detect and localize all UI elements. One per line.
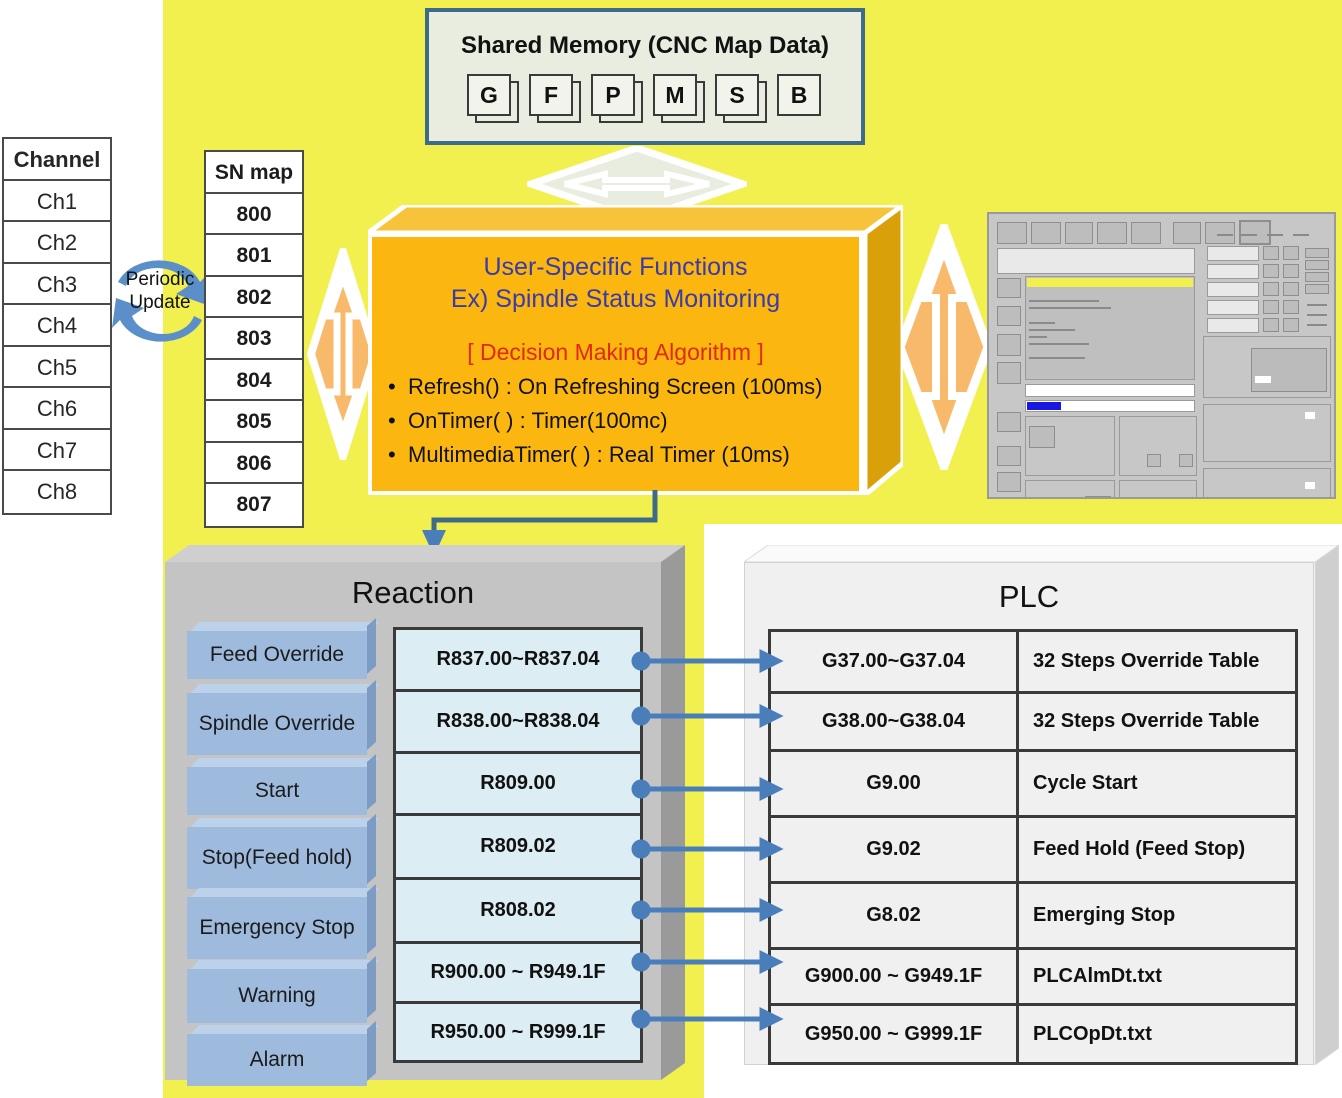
reaction-register-1: R837.00~R837.04 <box>396 630 640 692</box>
channel-row-7: Ch7 <box>4 430 110 472</box>
user-specific-functions-box: User-Specific Functions Ex) Spindle Stat… <box>368 205 903 495</box>
usf-heading: User-Specific Functions Ex) Spindle Stat… <box>372 251 859 315</box>
usf-bullet-list: Refresh() : On Refreshing Screen (100ms)… <box>372 370 859 472</box>
reaction-label-stop-feed-hold[interactable]: Stop(Feed hold) <box>187 827 367 889</box>
reaction-register-5: R808.02 <box>396 880 640 944</box>
cnc-hmi-screenshot[interactable] <box>987 212 1336 499</box>
user-specific-functions-face: User-Specific Functions Ex) Spindle Stat… <box>368 233 863 495</box>
reaction-register-6: R900.00 ~ R949.1F <box>396 944 640 1004</box>
usf-bullet-2: OnTimer( ) : Timer(100mc) <box>386 404 859 438</box>
plc-title: PLC <box>744 579 1314 615</box>
plc-table: G37.00~G37.04 32 Steps Override Table G3… <box>768 629 1298 1065</box>
plc-address-7: G950.00 ~ G999.1F <box>771 1006 1019 1062</box>
reaction-label-feed-override[interactable]: Feed Override <box>187 631 367 679</box>
periodic-update-indicator: Periodic Update <box>104 238 216 362</box>
memory-chip-b: B <box>777 74 823 118</box>
sn-map-table: SN map 800 801 802 803 804 805 806 807 <box>204 150 304 528</box>
channel-row-6: Ch6 <box>4 388 110 430</box>
plc-description-3: Cycle Start <box>1019 752 1295 815</box>
plc-description-5: Emerging Stop <box>1019 884 1295 947</box>
plc-address-5: G8.02 <box>771 884 1019 947</box>
sn-map-header: SN map <box>206 152 302 194</box>
reaction-title: Reaction <box>165 575 661 611</box>
reaction-register-7: R950.00 ~ R999.1F <box>396 1004 640 1060</box>
reaction-label-warning[interactable]: Warning <box>187 969 367 1023</box>
plc-row-2: G38.00~G38.04 32 Steps Override Table <box>771 694 1295 752</box>
plc-description-6: PLCAlmDt.txt <box>1019 950 1295 1003</box>
channel-row-5: Ch5 <box>4 347 110 389</box>
memory-chip-s: S <box>715 74 761 118</box>
channel-table: Channel Ch1 Ch2 Ch3 Ch4 Ch5 Ch6 Ch7 Ch8 <box>2 137 112 515</box>
plc-description-4: Feed Hold (Feed Stop) <box>1019 818 1295 881</box>
channel-table-header: Channel <box>4 139 110 181</box>
channel-row-8: Ch8 <box>4 471 110 513</box>
memory-chip-m: M <box>653 74 699 118</box>
plc-row-6: G900.00 ~ G949.1F PLCAlmDt.txt <box>771 950 1295 1006</box>
sn-map-row-1: 800 <box>206 194 302 236</box>
shared-memory-panel: Shared Memory (CNC Map Data) G F P M S B <box>425 8 865 145</box>
plc-address-6: G900.00 ~ G949.1F <box>771 950 1019 1003</box>
shared-memory-chip-list: G F P M S B <box>429 74 861 118</box>
usf-algorithm-heading: [ Decision Making Algorithm ] <box>372 339 859 366</box>
reaction-register-3: R809.00 <box>396 754 640 816</box>
sn-map-row-2: 801 <box>206 235 302 277</box>
sn-map-row-8: 807 <box>206 484 302 526</box>
usf-bullet-1: Refresh() : On Refreshing Screen (100ms) <box>386 370 859 404</box>
right-double-arrow-usf-hmi <box>896 224 992 470</box>
plc-address-2: G38.00~G38.04 <box>771 694 1019 749</box>
channel-row-1: Ch1 <box>4 181 110 223</box>
reaction-register-4: R809.02 <box>396 816 640 880</box>
reaction-label-spindle-override[interactable]: Spindle Override <box>187 693 367 755</box>
channel-row-4: Ch4 <box>4 305 110 347</box>
plc-row-7: G950.00 ~ G999.1F PLCOpDt.txt <box>771 1006 1295 1062</box>
sn-map-row-6: 805 <box>206 401 302 443</box>
plc-row-3: G9.00 Cycle Start <box>771 752 1295 818</box>
plc-address-1: G37.00~G37.04 <box>771 632 1019 691</box>
plc-address-4: G9.02 <box>771 818 1019 881</box>
memory-chip-p: P <box>591 74 637 118</box>
channel-row-2: Ch2 <box>4 222 110 264</box>
sn-map-row-7: 806 <box>206 443 302 485</box>
plc-row-1: G37.00~G37.04 32 Steps Override Table <box>771 632 1295 694</box>
reaction-label-start[interactable]: Start <box>187 767 367 815</box>
sn-map-row-3: 802 <box>206 277 302 319</box>
reaction-panel: Reaction Feed Override Spindle Override … <box>165 545 685 1080</box>
reaction-label-emergency-stop[interactable]: Emergency Stop <box>187 897 367 959</box>
plc-row-4: G9.02 Feed Hold (Feed Stop) <box>771 818 1295 884</box>
reaction-label-alarm[interactable]: Alarm <box>187 1034 367 1086</box>
reaction-register-2: R838.00~R838.04 <box>396 692 640 754</box>
plc-panel: PLC G37.00~G37.04 32 Steps Override Tabl… <box>744 545 1339 1065</box>
channel-row-3: Ch3 <box>4 264 110 306</box>
shared-memory-title: Shared Memory (CNC Map Data) <box>429 32 861 60</box>
memory-chip-g: G <box>467 74 513 118</box>
sn-map-row-4: 803 <box>206 318 302 360</box>
periodic-update-label: Periodic Update <box>104 268 216 314</box>
plc-address-3: G9.00 <box>771 752 1019 815</box>
plc-description-7: PLCOpDt.txt <box>1019 1006 1295 1062</box>
plc-description-2: 32 Steps Override Table <box>1019 694 1295 749</box>
plc-row-5: G8.02 Emerging Stop <box>771 884 1295 950</box>
sn-map-row-5: 804 <box>206 360 302 402</box>
memory-chip-f: F <box>529 74 575 118</box>
plc-description-1: 32 Steps Override Table <box>1019 632 1295 691</box>
reaction-register-table: R837.00~R837.04 R838.00~R838.04 R809.00 … <box>393 627 643 1063</box>
usf-bullet-3: MultimediaTimer( ) : Real Timer (10ms) <box>386 438 859 472</box>
